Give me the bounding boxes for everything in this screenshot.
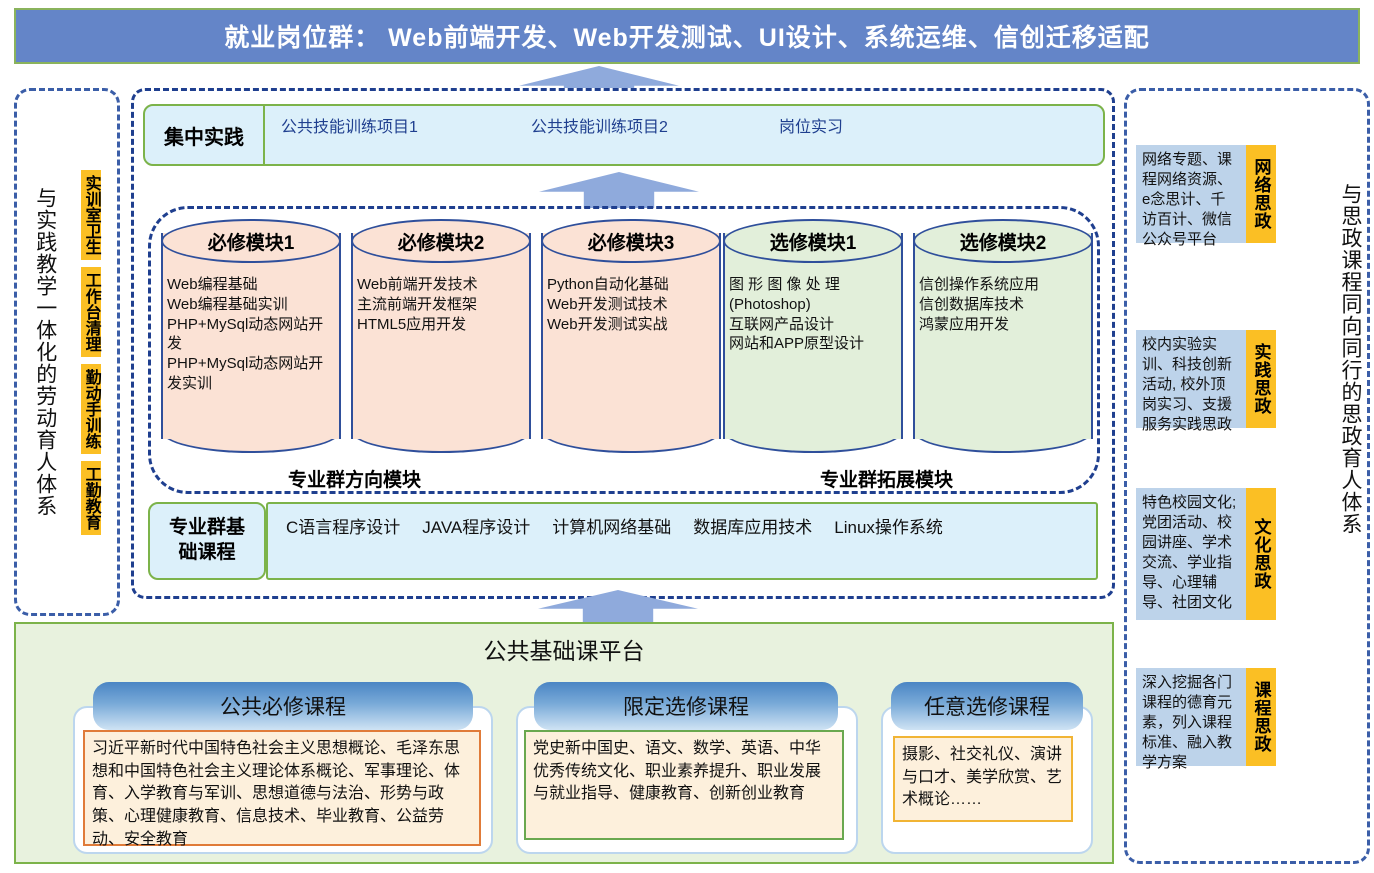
labor-tag-0: 实训室卫生 bbox=[81, 170, 101, 260]
module-course-list: Python自动化基础 Web开发测试技术 Web开发测试实战 bbox=[547, 275, 715, 435]
base-courses-label: 专业群基 础课程 bbox=[148, 502, 266, 580]
module-title: 选修模块1 bbox=[770, 228, 857, 255]
caption-direction-modules: 专业群方向模块 bbox=[288, 465, 421, 492]
labor-tag-3: 工勤教育 bbox=[81, 461, 101, 535]
cylinder-top-shape: 必修模块2 bbox=[351, 219, 531, 263]
public-basic-course-platform: 公共基础课平台 公共必修课程 习近平新时代中国特色社会主义思想概论、毛泽东思想和… bbox=[14, 622, 1114, 864]
cylinder-top-shape: 必修模块3 bbox=[541, 219, 721, 263]
public-required-course-card: 公共必修课程 习近平新时代中国特色社会主义思想概论、毛泽东思想和中国特色社会主义… bbox=[73, 682, 493, 852]
module-course-list: Web编程基础 Web编程基础实训 PHP+MySql动态网站开发 PHP+My… bbox=[167, 275, 335, 435]
module-course-list: 图 形 图 像 处 理 (Photoshop) 互联网产品设计 网站和APP原型… bbox=[729, 275, 897, 435]
labor-panel-title: 与实践教学一体化的劳动育人体系 bbox=[33, 187, 55, 517]
module-cylinder-optional-2: 信创操作系统应用 信创数据库技术 鸿蒙应用开发 选修模块2 bbox=[913, 219, 1093, 453]
public-platform-title: 公共基础课平台 bbox=[16, 632, 1112, 666]
module-cylinder-required-2: Web前端开发技术 主流前端开发框架 HTML5应用开发 必修模块2 bbox=[351, 219, 531, 453]
labor-tag-list: 实训室卫生 工作台清理 勤动手训练 工勤教育 bbox=[81, 97, 101, 607]
module-title: 必修模块3 bbox=[588, 228, 675, 255]
base-course-0: C语言程序设计 bbox=[286, 513, 400, 538]
base-courses-label-line1: 专业群基 bbox=[169, 516, 245, 541]
concentrated-item-0: 公共技能训练项目1 bbox=[281, 113, 531, 137]
ideology-row-curriculum: 深入挖掘各门课程的德育元素，列入课程标准、融入教学方案 课程思政 bbox=[1136, 668, 1276, 766]
concentrated-practice-label: 集中实践 bbox=[145, 106, 265, 164]
module-cylinder-required-1: Web编程基础 Web编程基础实训 PHP+MySql动态网站开发 PHP+My… bbox=[161, 219, 341, 453]
card-body: 习近平新时代中国特色社会主义思想概论、毛泽东思想和中国特色社会主义理论体系概论、… bbox=[83, 730, 481, 846]
banner-title: 就业岗位群： Web前端开发、Web开发测试、UI设计、系统运维、信创迁移适配 bbox=[224, 18, 1150, 54]
ideology-tag: 实践思政 bbox=[1246, 330, 1276, 428]
base-course-4: Linux操作系统 bbox=[834, 513, 943, 538]
base-courses-row: 专业群基 础课程 C语言程序设计 JAVA程序设计 计算机网络基础 数据库应用技… bbox=[148, 502, 1098, 580]
ideology-row-practice: 校内实验实训、科技创新活动, 校外顶岗实习、支援服务实践思政 实践思政 bbox=[1136, 330, 1276, 428]
ideology-tag: 文化思政 bbox=[1246, 488, 1276, 620]
concentrated-item-2: 岗位实习 bbox=[779, 113, 939, 137]
concentrated-practice-row: 集中实践 公共技能训练项目1 公共技能训练项目2 岗位实习 bbox=[143, 104, 1105, 166]
module-title: 选修模块2 bbox=[960, 228, 1047, 255]
module-cylinder-required-3: Python自动化基础 Web开发测试技术 Web开发测试实战 必修模块3 bbox=[541, 219, 721, 453]
module-title: 必修模块2 bbox=[398, 228, 485, 255]
public-limited-elective-card: 限定选修课程 党史新中国史、语文、数学、英语、中华优秀传统文化、职业素养提升、职… bbox=[516, 682, 858, 852]
cylinder-top-shape: 选修模块1 bbox=[723, 219, 903, 263]
labor-tag-2: 勤动手训练 bbox=[81, 364, 101, 454]
card-body: 摄影、社交礼仪、演讲与口才、美学欣赏、艺术概论…… bbox=[893, 736, 1073, 822]
card-header: 任意选修课程 bbox=[891, 682, 1083, 730]
ideology-desc: 深入挖掘各门课程的德育元素，列入课程标准、融入教学方案 bbox=[1136, 668, 1246, 766]
ideology-tag: 课程思政 bbox=[1246, 668, 1276, 766]
base-courses-items: C语言程序设计 JAVA程序设计 计算机网络基础 数据库应用技术 Linux操作… bbox=[266, 502, 1098, 580]
module-title: 必修模块1 bbox=[208, 228, 295, 255]
ideological-panel-title: 与思政课程同向同行的思政育人体系 bbox=[1339, 183, 1361, 535]
concentrated-practice-items: 公共技能训练项目1 公共技能训练项目2 岗位实习 bbox=[265, 106, 1103, 164]
base-course-3: 数据库应用技术 bbox=[693, 513, 812, 538]
ideology-desc: 特色校园文化; 党团活动、校园讲座、学术交流、学业指导、心理辅导、社团文化 bbox=[1136, 488, 1246, 620]
card-header: 限定选修课程 bbox=[534, 682, 838, 730]
ideology-row-culture: 特色校园文化; 党团活动、校园讲座、学术交流、学业指导、心理辅导、社团文化 文化… bbox=[1136, 488, 1276, 620]
labor-education-panel: 实训室卫生 工作台清理 勤动手训练 工勤教育 与实践教学一体化的劳动育人体系 bbox=[14, 88, 120, 616]
base-course-2: 计算机网络基础 bbox=[552, 513, 671, 538]
card-header: 公共必修课程 bbox=[93, 682, 473, 730]
public-free-elective-card: 任意选修课程 摄影、社交礼仪、演讲与口才、美学欣赏、艺术概论…… bbox=[881, 682, 1093, 852]
module-course-list: Web前端开发技术 主流前端开发框架 HTML5应用开发 bbox=[357, 275, 525, 435]
ideology-desc: 校内实验实训、科技创新活动, 校外顶岗实习、支援服务实践思政 bbox=[1136, 330, 1246, 428]
module-cylinder-optional-1: 图 形 图 像 处 理 (Photoshop) 互联网产品设计 网站和APP原型… bbox=[723, 219, 903, 453]
module-course-list: 信创操作系统应用 信创数据库技术 鸿蒙应用开发 bbox=[919, 275, 1087, 435]
concentrated-item-1: 公共技能训练项目2 bbox=[531, 113, 779, 137]
cylinder-top-shape: 必修模块1 bbox=[161, 219, 341, 263]
cylinder-top-shape: 选修模块2 bbox=[913, 219, 1093, 263]
caption-extension-modules: 专业群拓展模块 bbox=[820, 465, 953, 492]
card-body: 党史新中国史、语文、数学、英语、中华优秀传统文化、职业素养提升、职业发展与就业指… bbox=[524, 730, 844, 840]
ideology-desc: 网络专题、课程网络资源、e念思计、千访百计、微信公众号平台 bbox=[1136, 145, 1246, 243]
base-course-1: JAVA程序设计 bbox=[422, 513, 530, 538]
ideology-tag: 网络思政 bbox=[1246, 145, 1276, 243]
ideology-row-network: 网络专题、课程网络资源、e念思计、千访百计、微信公众号平台 网络思政 bbox=[1136, 145, 1276, 243]
employment-position-banner: 就业岗位群： Web前端开发、Web开发测试、UI设计、系统运维、信创迁移适配 bbox=[14, 8, 1360, 64]
labor-tag-1: 工作台清理 bbox=[81, 267, 101, 357]
base-courses-label-line2: 础课程 bbox=[178, 541, 235, 566]
